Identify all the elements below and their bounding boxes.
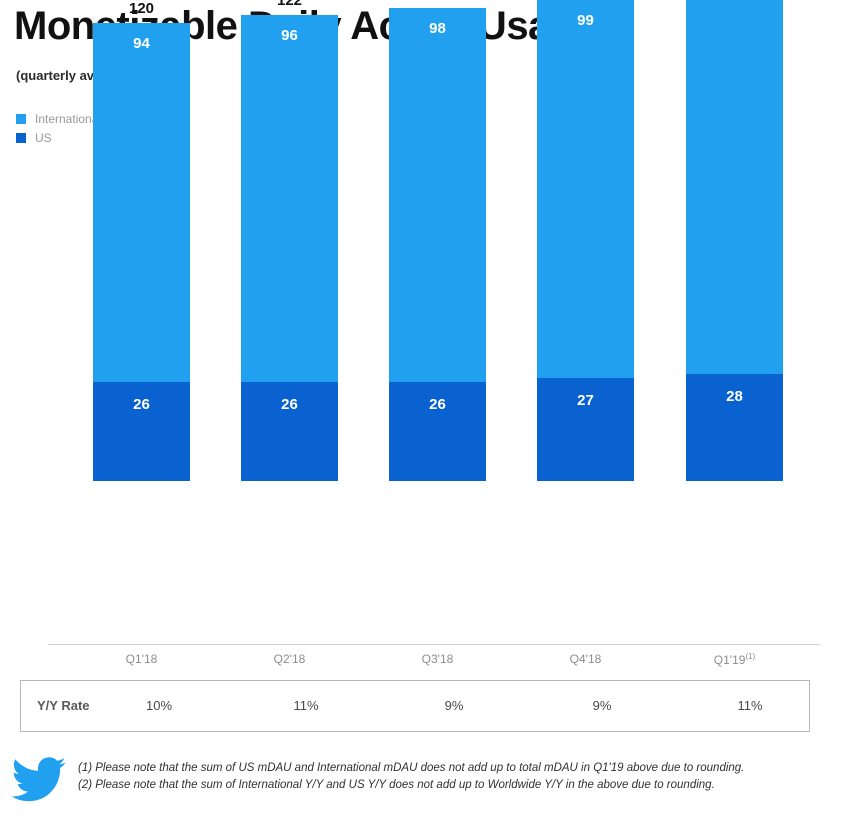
- slide-root: Monetizable Daily Active Usage (quarterl…: [0, 0, 852, 822]
- bar-segment-international-q4-18: 99: [537, 0, 634, 378]
- bar-total-label-q3-18: 124: [389, 0, 486, 2]
- yy-rate-cell-q1-18: 10%: [124, 698, 194, 713]
- x-tick-q4-18: Q4'18: [537, 652, 634, 666]
- x-tick-q2-18: Q2'18: [241, 652, 338, 666]
- yy-rate-cell-q2-18: 11%: [271, 698, 341, 713]
- bar-q2-18: 122 96 26: [241, 15, 338, 481]
- bar-q3-18: 124 98 26: [389, 8, 486, 481]
- twitter-bird-icon: [8, 752, 70, 807]
- yy-rate-cell-q4-18: 9%: [567, 698, 637, 713]
- x-tick-q3-18: Q3'18: [389, 652, 486, 666]
- bar-segment-us-q3-18: 26: [389, 382, 486, 481]
- bar-q1-18: 120 94 26: [93, 23, 190, 481]
- bar-segment-us-q2-18: 26: [241, 382, 338, 481]
- bar-value-us-q4-18: 27: [537, 392, 634, 409]
- bar-value-us-q3-18: 26: [389, 396, 486, 413]
- footnote-1: (1) Please note that the sum of US mDAU …: [78, 760, 850, 777]
- bar-segment-international-q1-19: 105: [686, 0, 783, 374]
- bar-q1-19: 134 105 28: [686, 0, 783, 481]
- bar-total-label-q2-18: 122: [241, 0, 338, 9]
- bar-value-international-q2-18: 96: [241, 27, 338, 44]
- bar-value-international-q1-18: 94: [93, 35, 190, 52]
- yy-rate-row-label: Y/Y Rate: [37, 698, 90, 713]
- yy-rate-cell-q3-18: 9%: [419, 698, 489, 713]
- footnotes: (1) Please note that the sum of US mDAU …: [78, 760, 850, 793]
- yy-rate-cell-q1-19: 11%: [715, 698, 785, 713]
- bar-segment-us-q4-18: 27: [537, 378, 634, 481]
- bar-segment-international-q3-18: 98: [389, 8, 486, 382]
- x-tick-label-q1-19: Q1'19: [714, 653, 746, 667]
- bar-value-us-q1-18: 26: [93, 396, 190, 413]
- x-tick-label-q3-18: Q3'18: [422, 652, 454, 666]
- yy-rate-table: Y/Y Rate 10% 11% 9% 9% 11%: [20, 680, 810, 732]
- bar-total-label-q1-18: 120: [93, 0, 190, 17]
- bar-segment-international-q1-18: 94: [93, 23, 190, 382]
- bar-segment-international-q2-18: 96: [241, 15, 338, 382]
- x-axis-line: [48, 644, 820, 645]
- bar-value-international-q3-18: 98: [389, 20, 486, 37]
- bar-value-international-q4-18: 99: [537, 12, 634, 29]
- x-tick-label-q4-18: Q4'18: [570, 652, 602, 666]
- bar-value-us-q1-19: 28: [686, 388, 783, 405]
- x-tick-q1-18: Q1'18: [93, 652, 190, 666]
- bar-segment-us-q1-19: 28: [686, 374, 783, 481]
- x-tick-label-q1-18: Q1'18: [126, 652, 158, 666]
- x-tick-q1-19: Q1'19(1): [686, 652, 783, 667]
- bar-q4-18: 126 99 27: [537, 0, 634, 481]
- stacked-bar-chart: 120 94 26 122 96 26 124 98 26: [0, 0, 852, 660]
- footnote-2: (2) Please note that the sum of Internat…: [78, 777, 850, 794]
- x-tick-label-q2-18: Q2'18: [274, 652, 306, 666]
- bar-segment-us-q1-18: 26: [93, 382, 190, 481]
- x-tick-footnote-marker-q1-19: (1): [745, 652, 755, 661]
- bar-value-us-q2-18: 26: [241, 396, 338, 413]
